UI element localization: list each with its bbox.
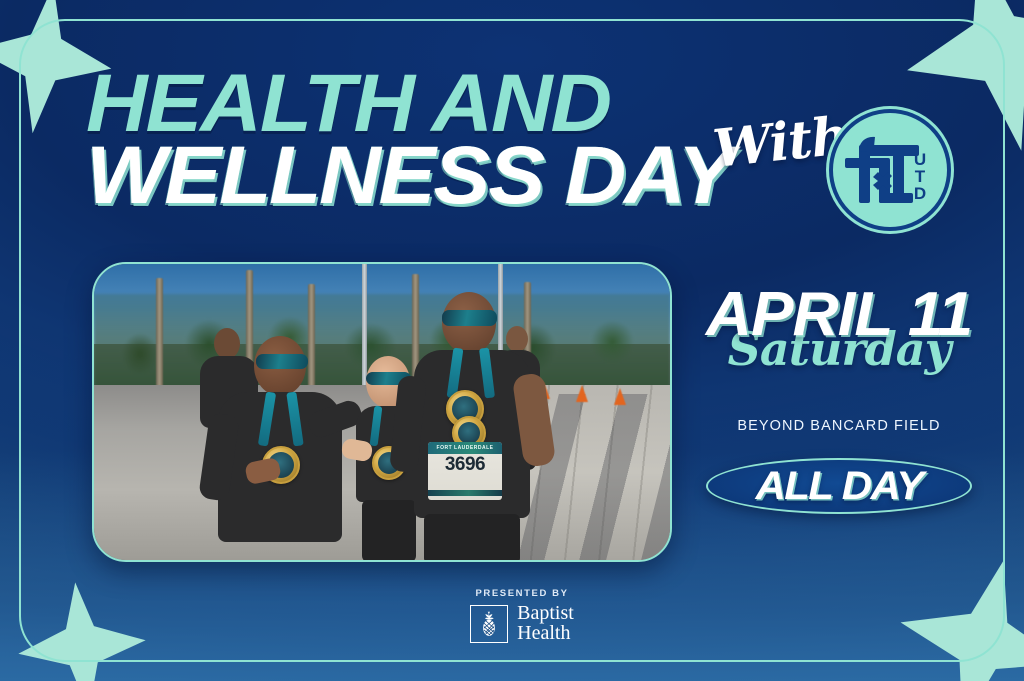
photo-palm-trunk: [156, 278, 163, 390]
photo-light-pole: [362, 264, 367, 388]
photo-palm-trunk: [308, 284, 315, 388]
event-date-block: APRIL 11 Saturday: [700, 284, 978, 376]
sponsor-name-line-1: Baptist: [517, 604, 574, 624]
photo-traffic-cone: [614, 388, 626, 405]
photo-race-bib: FORT LAUDERDALE 3696: [428, 442, 502, 500]
headline-line-2: WELLNESS DAY: [86, 138, 710, 214]
bib-number: 3696: [428, 455, 502, 474]
ftl-utd-crest-logo: U T D: [823, 103, 957, 237]
all-day-label: ALL DAY: [699, 458, 978, 514]
promo-poster: HEALTH AND WELLNESS DAY With: [0, 0, 1024, 681]
presented-by-label: PRESENTED BY: [382, 588, 662, 599]
sponsor-block: PRESENTED BY Baptist Health: [382, 588, 662, 643]
star-icon-bottom-left: [12, 576, 153, 681]
pineapple-icon: [470, 605, 508, 643]
page-title: HEALTH AND WELLNESS DAY: [86, 66, 686, 215]
all-day-badge: ALL DAY: [706, 458, 972, 514]
star-icon-bottom-right: [880, 540, 1024, 681]
event-photo: FORT LAUDERDALE 3696: [92, 262, 672, 562]
event-date: APRIL 11: [696, 284, 982, 346]
photo-traffic-cone: [576, 385, 588, 402]
sponsor-name: Baptist Health: [517, 604, 574, 643]
bib-event-label: FORT LAUDERDALE: [428, 442, 502, 454]
sponsor-name-line-2: Health: [517, 624, 574, 644]
event-venue: BEYOND BANCARD FIELD: [700, 418, 978, 434]
svg-text:D: D: [914, 184, 926, 203]
